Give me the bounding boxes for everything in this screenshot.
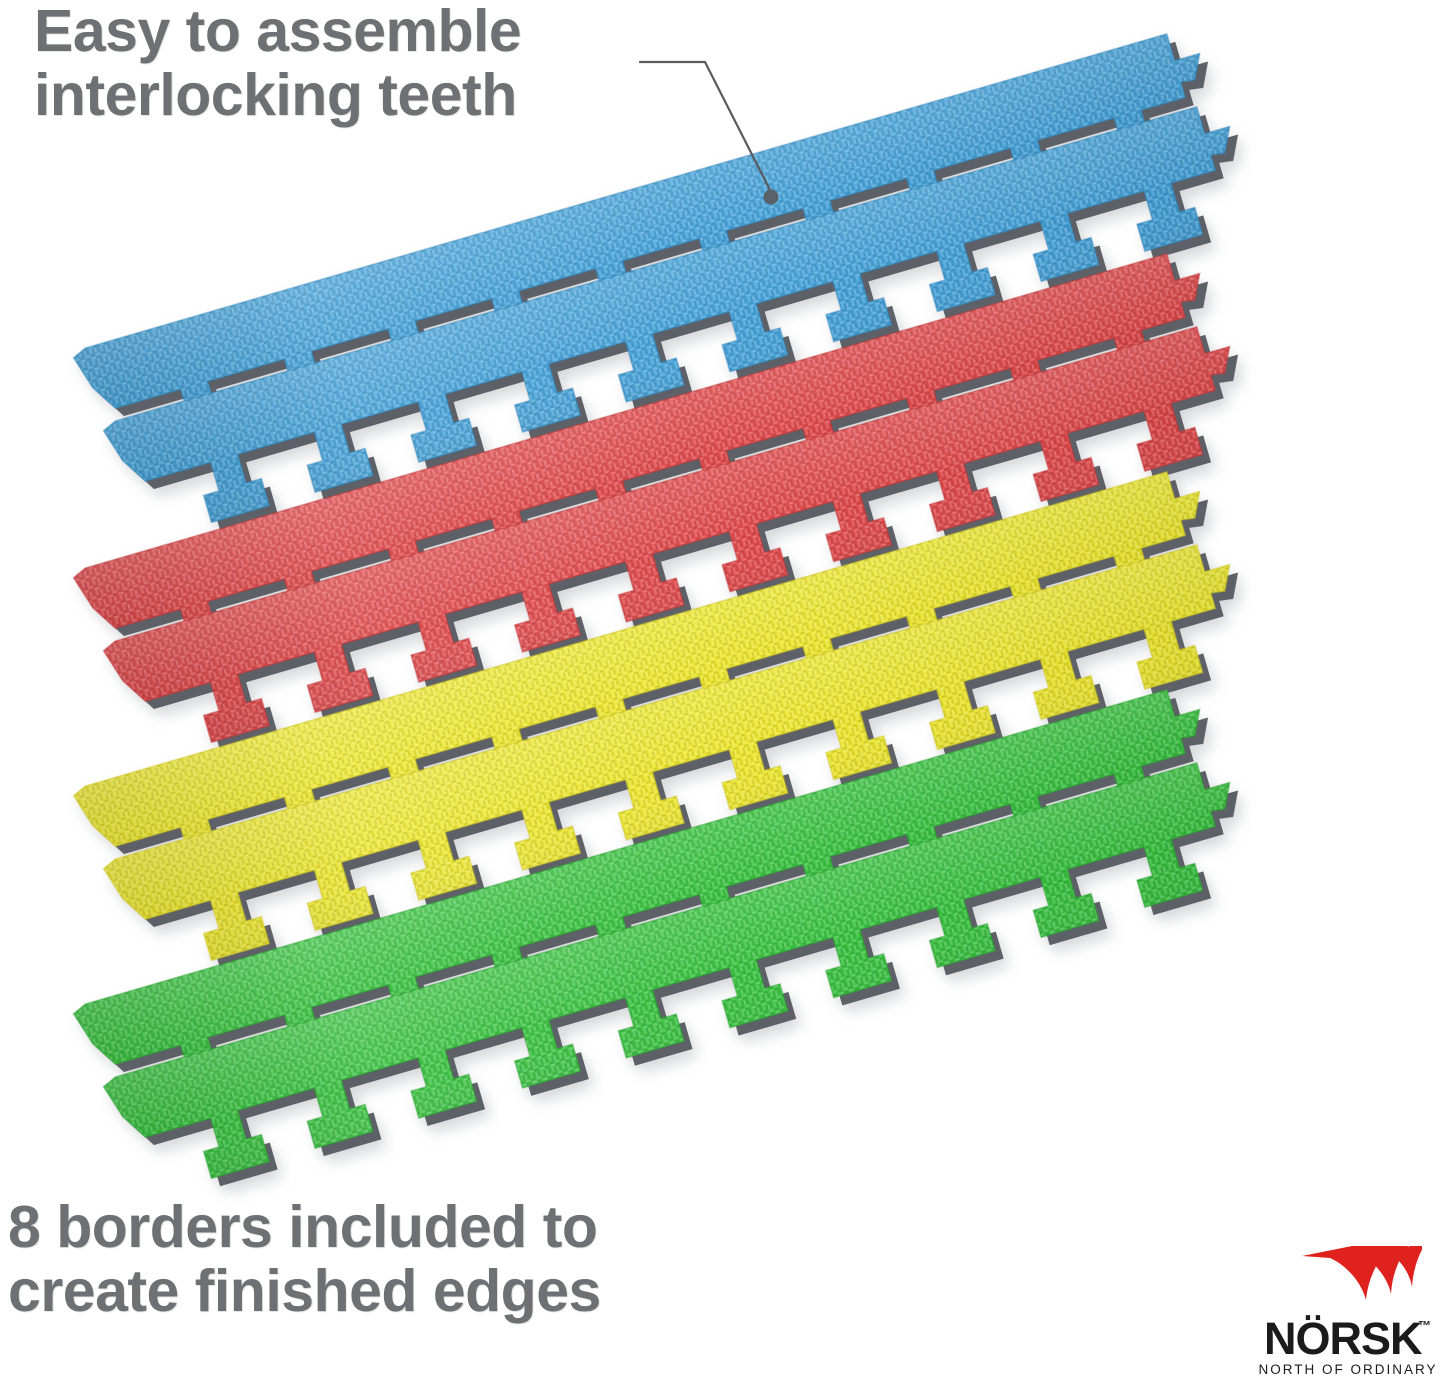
foam-border-strips-illustration: [0, 0, 1445, 1395]
headline-borders-included: 8 borders included to create finished ed…: [8, 1196, 728, 1323]
norsk-chevron-mark: [1294, 1244, 1422, 1318]
norsk-logo: NÖRSK ™ NORTH OF ORDINARY: [1258, 1244, 1438, 1392]
headline-interlocking-teeth: Easy to assemble interlocking teeth: [34, 0, 674, 127]
svg-text:NÖRSK: NÖRSK: [1264, 1314, 1423, 1362]
svg-text:™: ™: [1418, 1318, 1431, 1333]
product-image-canvas: Easy to assemble interlocking teeth 8 bo…: [0, 0, 1445, 1395]
norsk-tagline: NORTH OF ORDINARY: [1258, 1362, 1438, 1377]
norsk-wordmark: NÖRSK ™: [1258, 1314, 1438, 1362]
